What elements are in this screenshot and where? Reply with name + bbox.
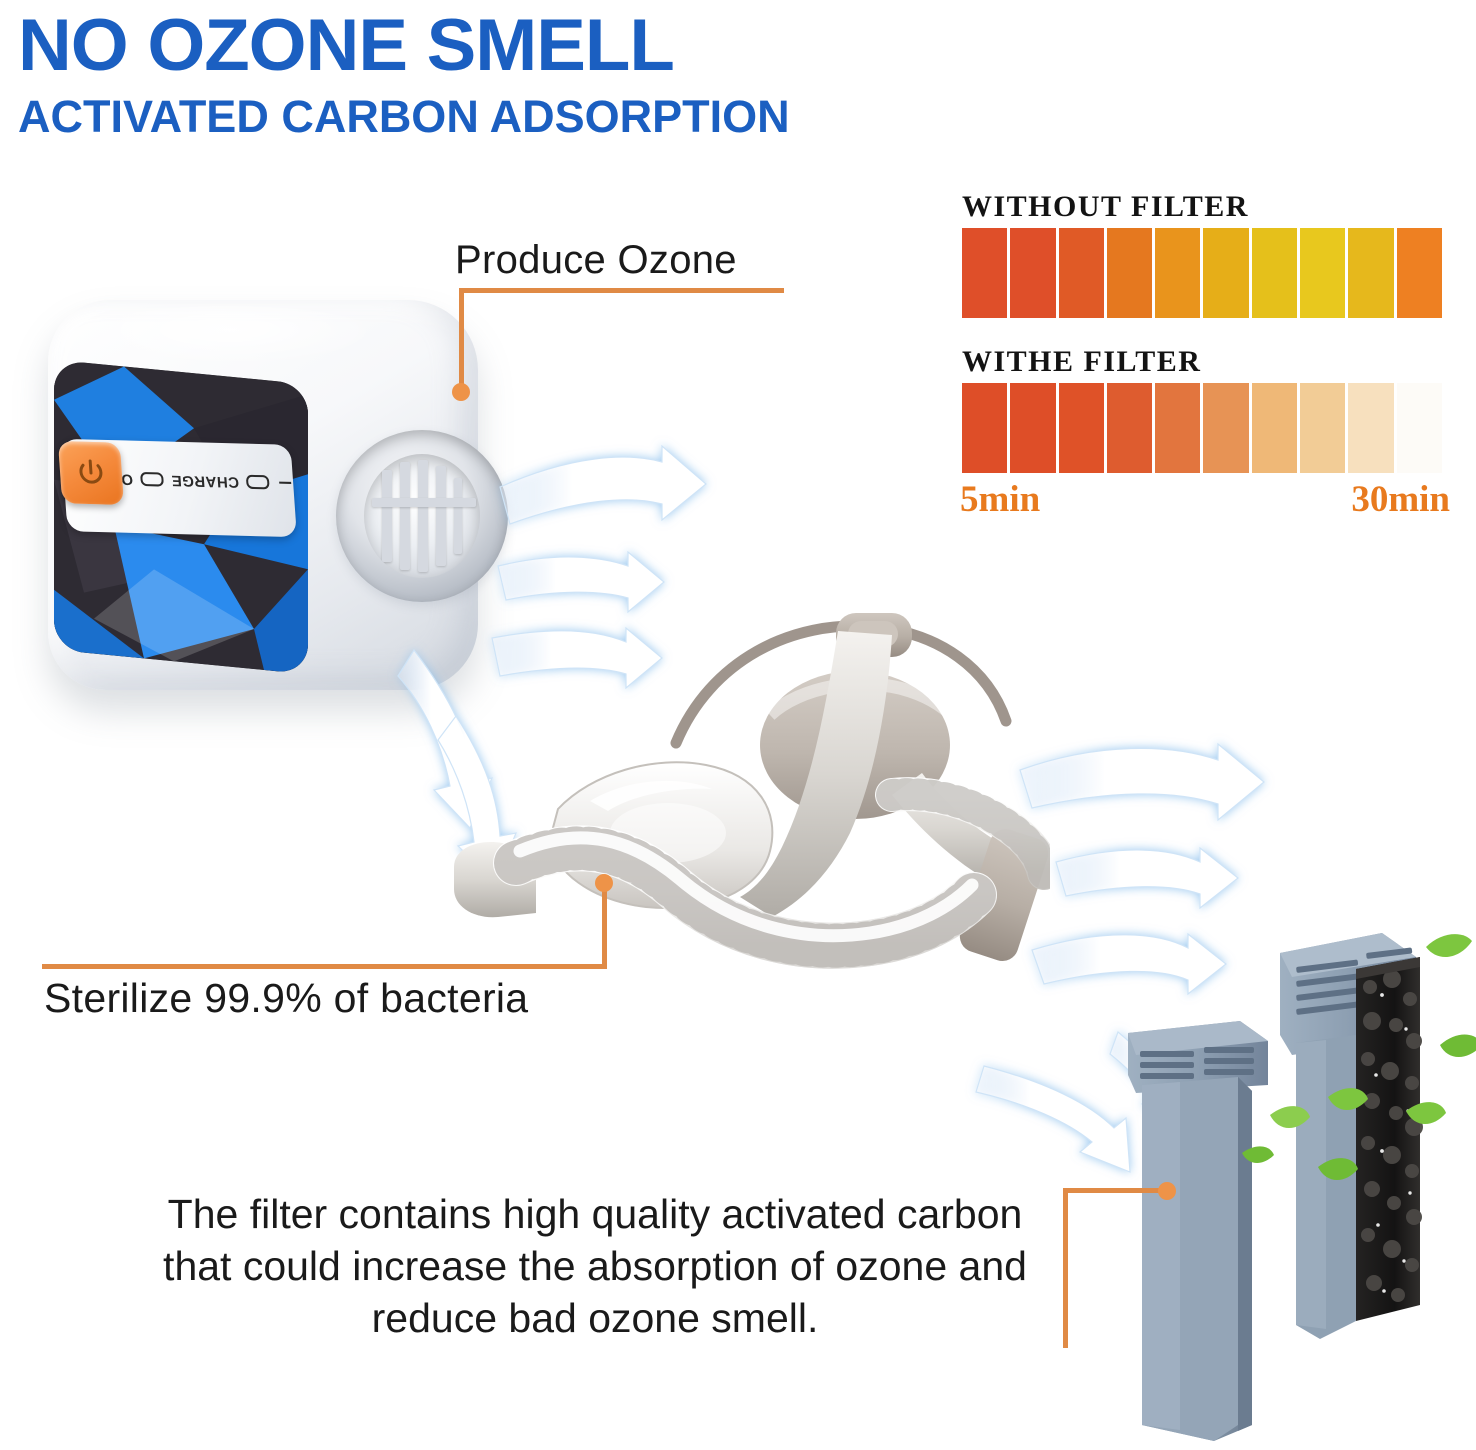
power-icon [76,458,106,489]
chart-bar [1300,383,1345,473]
callout-line-filter-v [1063,1188,1068,1348]
callout-produce-ozone: Produce Ozone [455,238,737,283]
vent-inner [364,454,480,578]
axis-end-label: 30min [1351,478,1450,521]
chart-bar [1155,383,1200,473]
chart-bar [1397,383,1442,473]
chart-bar [1059,228,1104,318]
chart-bar [1252,383,1297,473]
filter-cartridge-cutaway [1280,933,1423,1339]
chart-bar [1348,383,1393,473]
chart-with-filter: WITHE FILTER [962,345,1442,473]
chart-without-filter: WITHOUT FILTER [962,190,1442,318]
chart-title-without-filter: WITHOUT FILTER [962,190,1442,224]
chart-bar [962,228,1007,318]
axis-start-label: 5min [960,478,1040,521]
callout-line-sterilize-v [602,882,607,969]
filter-cartridge-front [1128,1021,1268,1441]
chart-bar [1010,228,1055,318]
callout-line-produce-ozone-v [459,288,464,386]
chart-bar [1397,228,1442,318]
chart-bar [1203,228,1248,318]
callout-line-produce-ozone-h [459,288,784,293]
callout-sterilize: Sterilize 99.9% of bacteria [44,975,528,1022]
chart-bar [1059,383,1104,473]
chart-bar [1252,228,1297,318]
chart-bars-with-filter [962,383,1442,473]
device-air-vent [336,430,508,602]
callout-dot-sterilize [595,874,613,892]
infographic-canvas: NO OZONE SMELL ACTIVATED CARBON ADSORPTI… [0,0,1476,1446]
on-indicator-pill [140,472,164,487]
label-dash-left [279,482,291,484]
chart-bar [1203,383,1248,473]
chart-bar [1107,383,1152,473]
chart-bar [1348,228,1393,318]
headline-primary: NO OZONE SMELL [18,6,936,86]
headline-block: NO OZONE SMELL ACTIVATED CARBON ADSORPTI… [18,6,918,144]
chart-bar [962,383,1007,473]
chart-title-with-filter: WITHE FILTER [962,345,1442,379]
chart-bar [1010,383,1055,473]
device-status-label-text: CHARGE ON [115,470,294,492]
label-charge: CHARGE [171,472,240,491]
headline-secondary: ACTIVATED CARBON ADSORPTION [18,90,918,144]
callout-dot-filter [1158,1182,1176,1200]
callout-dot-produce-ozone [452,383,470,401]
chart-bar [1300,228,1345,318]
power-button[interactable] [58,441,124,505]
cpap-mask-illustration [440,595,1050,975]
cpap-mask [440,595,1050,975]
chart-bars-without-filter [962,228,1442,318]
callout-line-sterilize-h [42,964,607,969]
callout-filter-description: The filter contains high quality activat… [140,1188,1050,1344]
chart-bar [1155,228,1200,318]
chart-bar [1107,228,1152,318]
charge-indicator-pill [246,475,270,490]
chart-axis-labels: 5min 30min [960,478,1450,521]
